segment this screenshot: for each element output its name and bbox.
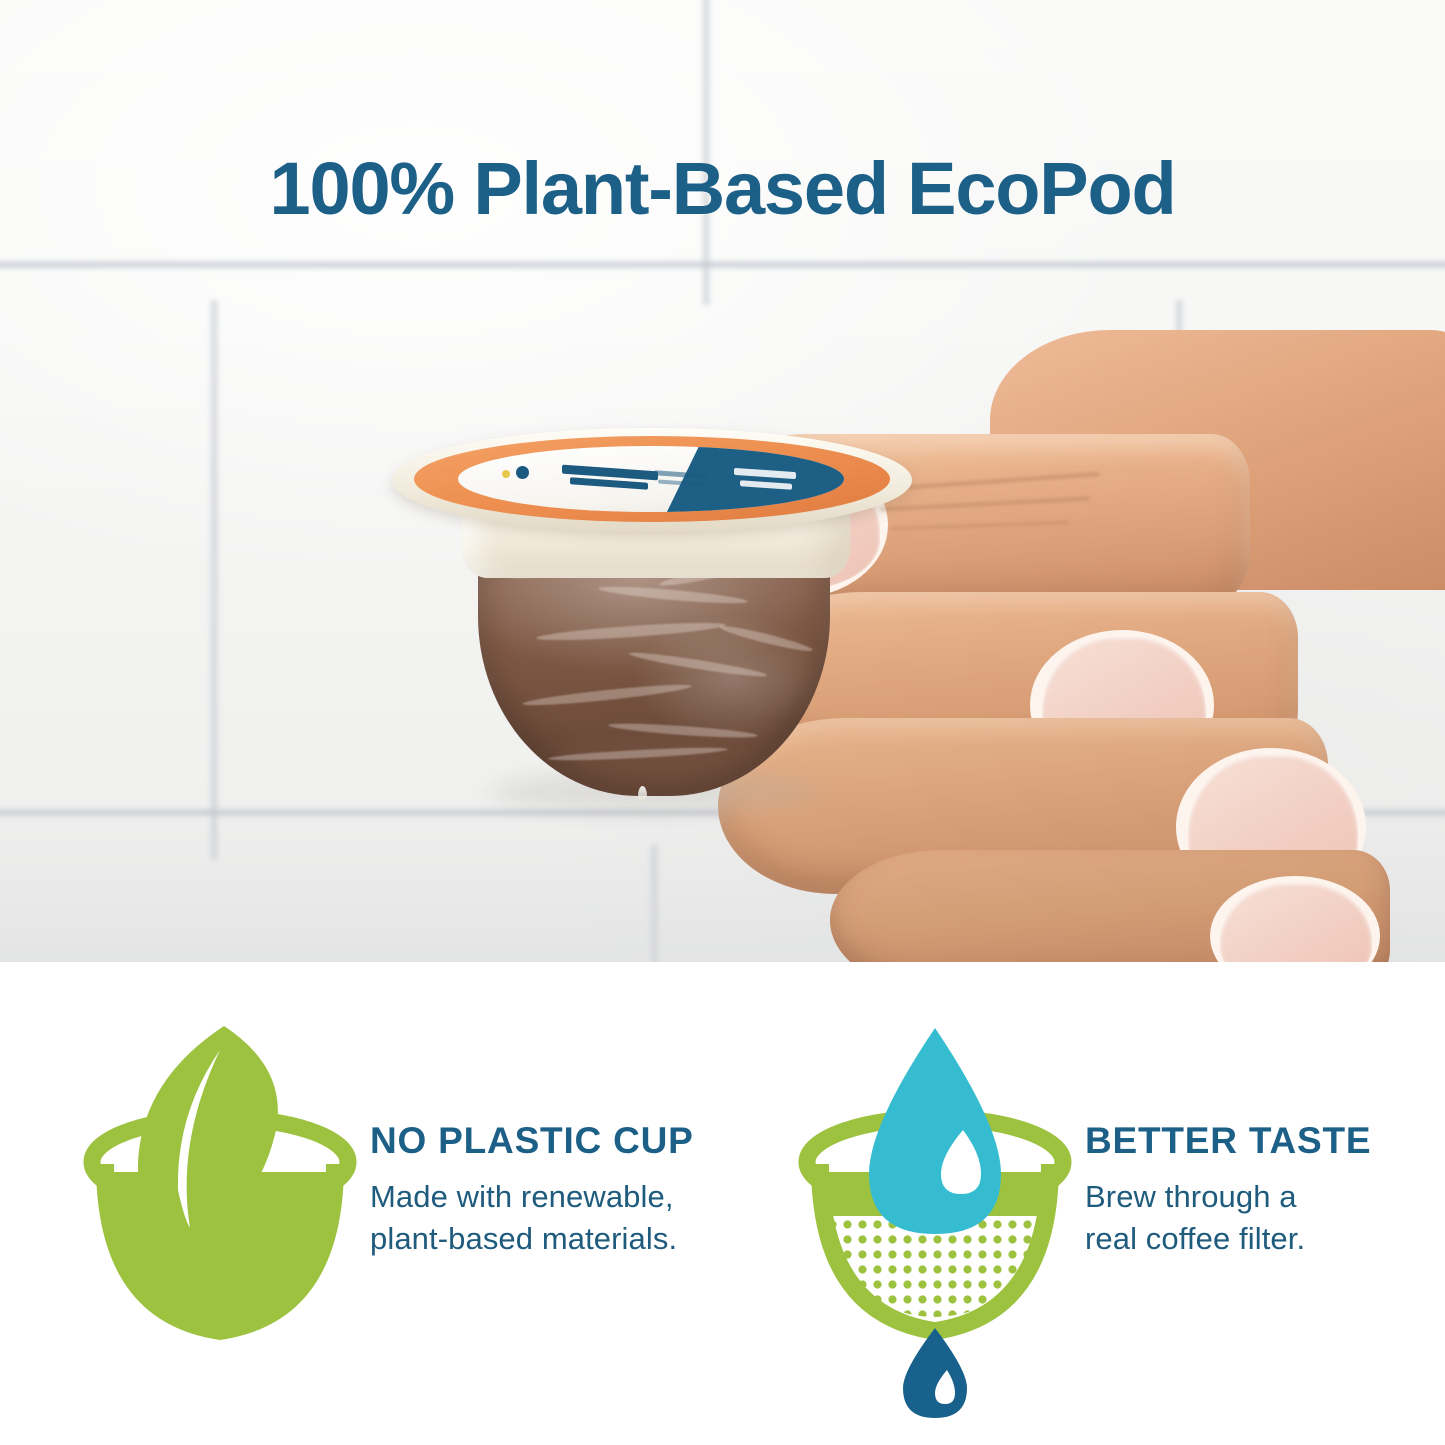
pod-lid-blue-band [662,446,844,512]
feature-body-line: Made with renewable, [370,1176,750,1218]
hero-product-photo: 100% Plant-Based EcoPod [0,0,1445,962]
feature-body-line: plant-based materials. [370,1218,750,1260]
feature-body: Made with renewable, plant-based materia… [370,1176,750,1259]
water-drip [638,786,647,802]
pod-lid [414,436,890,522]
feature-better-taste: BETTER TASTE Brew through a real coffee … [755,962,1445,1445]
tile-grout-horizontal [0,260,1445,269]
feature-body-line: Brew through a [1085,1176,1445,1218]
feature-body: Brew through a real coffee filter. [1085,1176,1445,1259]
feature-text-block: NO PLASTIC CUP Made with renewable, plan… [370,1122,750,1259]
pod-lid-label [458,446,844,512]
feature-no-plastic-cup: NO PLASTIC CUP Made with renewable, plan… [40,962,740,1445]
leaf-in-filter-basket-icon [80,1022,360,1352]
tile-grout-vertical [210,300,218,860]
page-title: 100% Plant-Based EcoPod [0,146,1445,231]
feature-panel: NO PLASTIC CUP Made with renewable, plan… [0,962,1445,1445]
feature-heading: BETTER TASTE [1085,1122,1445,1159]
coffee-pod [370,362,982,810]
water-drop-through-filter-basket-icon [795,1022,1075,1352]
product-infographic: 100% Plant-Based EcoPod [0,0,1445,1445]
feature-text-block: BETTER TASTE Brew through a real coffee … [1085,1122,1445,1259]
feature-body-line: real coffee filter. [1085,1218,1445,1260]
feature-heading: NO PLASTIC CUP [370,1122,750,1159]
